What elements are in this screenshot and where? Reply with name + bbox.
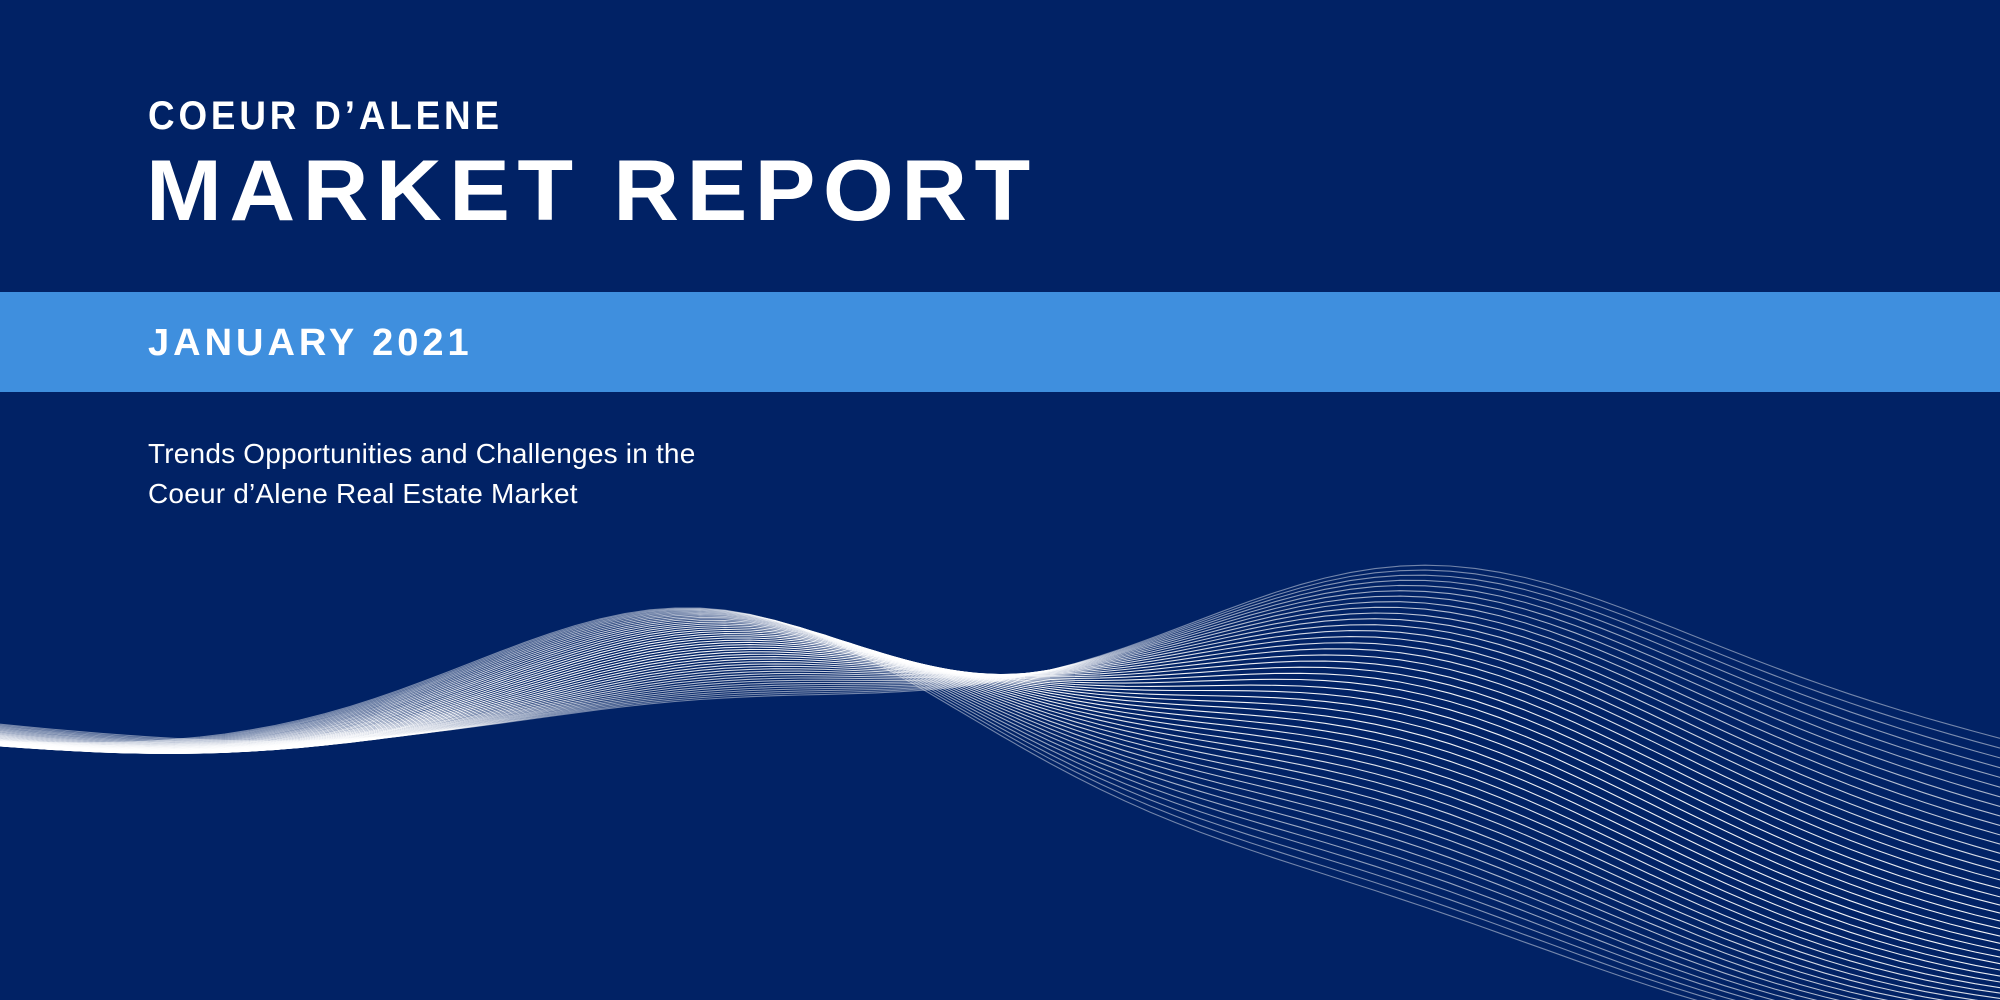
date-band: JANUARY 2021 — [0, 292, 2000, 392]
page-title: MARKET REPORT — [146, 148, 1038, 234]
report-date: JANUARY 2021 — [148, 322, 473, 365]
page-eyebrow: COEUR D’ALENE — [148, 94, 503, 139]
wave-mesh-graphic — [0, 430, 2000, 1000]
page-subtitle: Trends Opportunities and Challenges in t… — [148, 434, 695, 514]
market-report-cover: COEUR D’ALENE MARKET REPORT JANUARY 2021… — [0, 0, 2000, 1000]
